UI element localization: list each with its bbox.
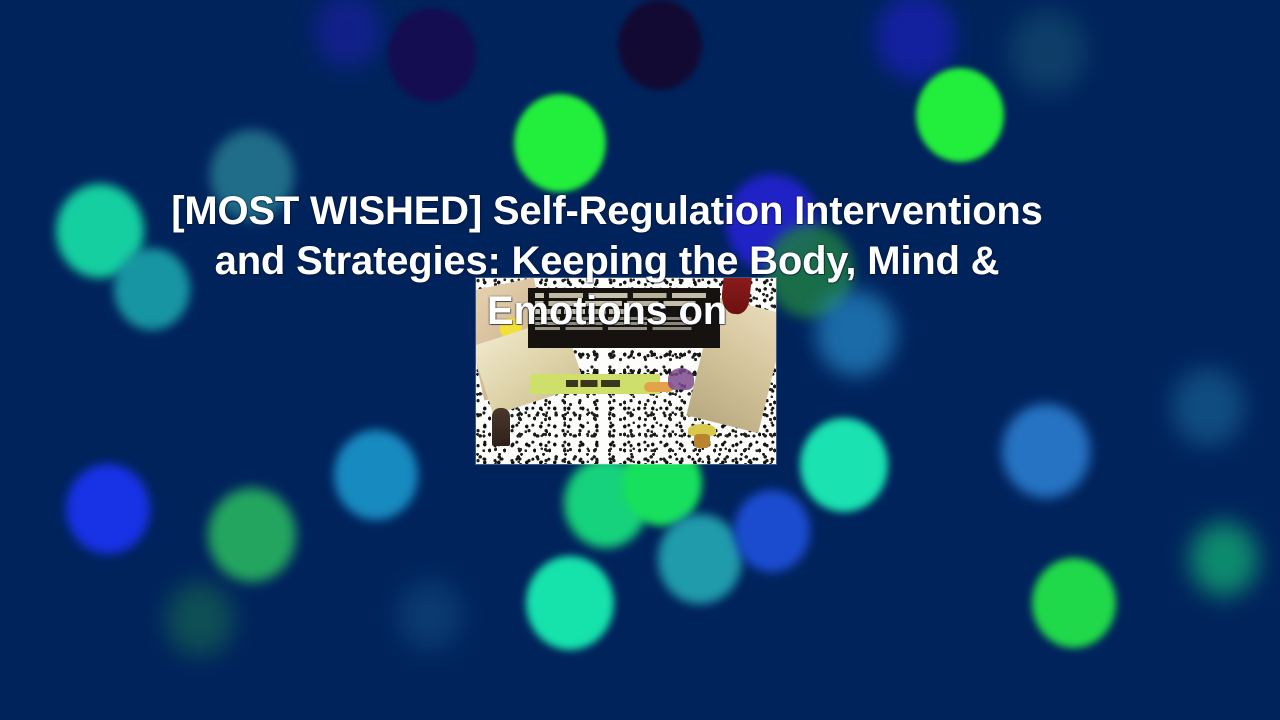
promo-title-line-1: [MOST WISHED] Self-Regulation Interventi… <box>34 186 1180 236</box>
bokeh-circle <box>1032 558 1116 648</box>
bokeh-circle <box>618 0 702 90</box>
cover-figure-child-body <box>694 434 710 448</box>
promo-title-line-2: and Strategies: Keeping the Body, Mind & <box>34 236 1180 286</box>
promo-title-line-3: Emotions on <box>34 286 1180 336</box>
cover-figure-person <box>492 408 510 446</box>
bokeh-circle <box>1002 404 1090 498</box>
bokeh-circle <box>658 514 742 604</box>
bokeh-circle <box>1190 522 1258 596</box>
bokeh-circle <box>916 68 1004 162</box>
bokeh-circle <box>334 430 418 520</box>
bokeh-circle <box>166 582 234 656</box>
bokeh-circle <box>388 8 476 102</box>
promo-title: [MOST WISHED] Self-Regulation Interventi… <box>0 186 1180 336</box>
bokeh-circle <box>514 94 606 192</box>
bokeh-circle <box>66 464 150 554</box>
bokeh-circle <box>800 418 888 512</box>
bokeh-circle <box>208 488 296 582</box>
cover-author-band <box>530 374 660 394</box>
slide-canvas: [MOST WISHED] Self-Regulation Interventi… <box>0 0 1280 720</box>
cover-figure-secondary <box>668 368 694 390</box>
bokeh-circle <box>398 580 462 650</box>
bokeh-circle <box>734 490 810 572</box>
bokeh-circle <box>314 0 382 68</box>
cover-author-text <box>566 380 632 387</box>
bokeh-circle <box>526 556 614 650</box>
bokeh-circle <box>876 0 956 80</box>
bokeh-circle <box>1010 10 1086 92</box>
cover-figure-child <box>686 422 720 448</box>
bokeh-circle <box>1172 368 1244 446</box>
